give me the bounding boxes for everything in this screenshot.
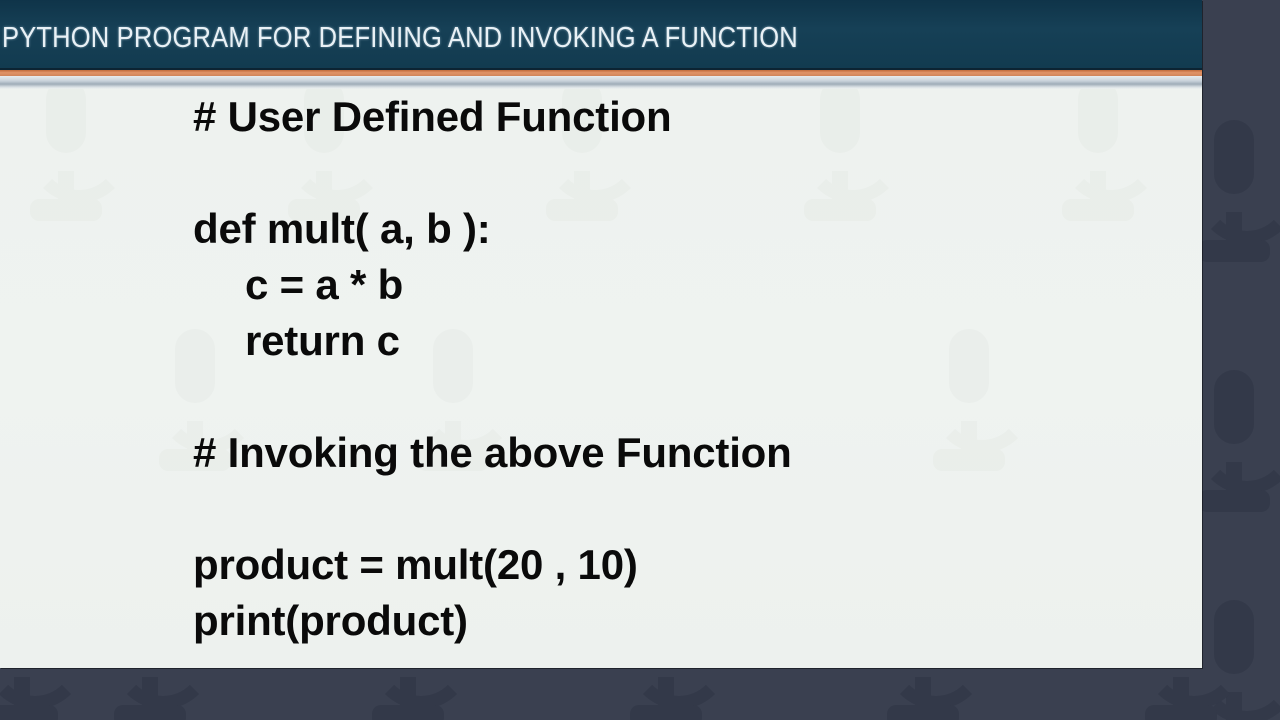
code-line: # User Defined Function [193, 89, 1153, 145]
slide-content-area: # User Defined Function def mult( a, b )… [0, 89, 1202, 668]
microphone-icon [20, 89, 112, 229]
code-block: # User Defined Function def mult( a, b )… [193, 89, 1153, 649]
page-title: PYTHON PROGRAM FOR DEFINING AND INVOKING… [2, 22, 798, 55]
slide: PYTHON PROGRAM FOR DEFINING AND INVOKING… [0, 0, 1202, 668]
presentation-screen: PYTHON PROGRAM FOR DEFINING AND INVOKING… [0, 0, 1280, 720]
code-line: c = a * b [193, 257, 1153, 313]
code-line: return c [193, 313, 1153, 369]
code-line-blank [193, 369, 1153, 425]
code-line: def mult( a, b ): [193, 201, 1153, 257]
code-line: print(product) [193, 593, 1153, 649]
code-line: # Invoking the above Function [193, 425, 1153, 481]
code-line-blank [193, 145, 1153, 201]
accent-divider-silver [0, 76, 1202, 89]
slide-title-bar: PYTHON PROGRAM FOR DEFINING AND INVOKING… [0, 0, 1202, 68]
code-line-blank [193, 481, 1153, 537]
code-line: product = mult(20 , 10) [193, 537, 1153, 593]
